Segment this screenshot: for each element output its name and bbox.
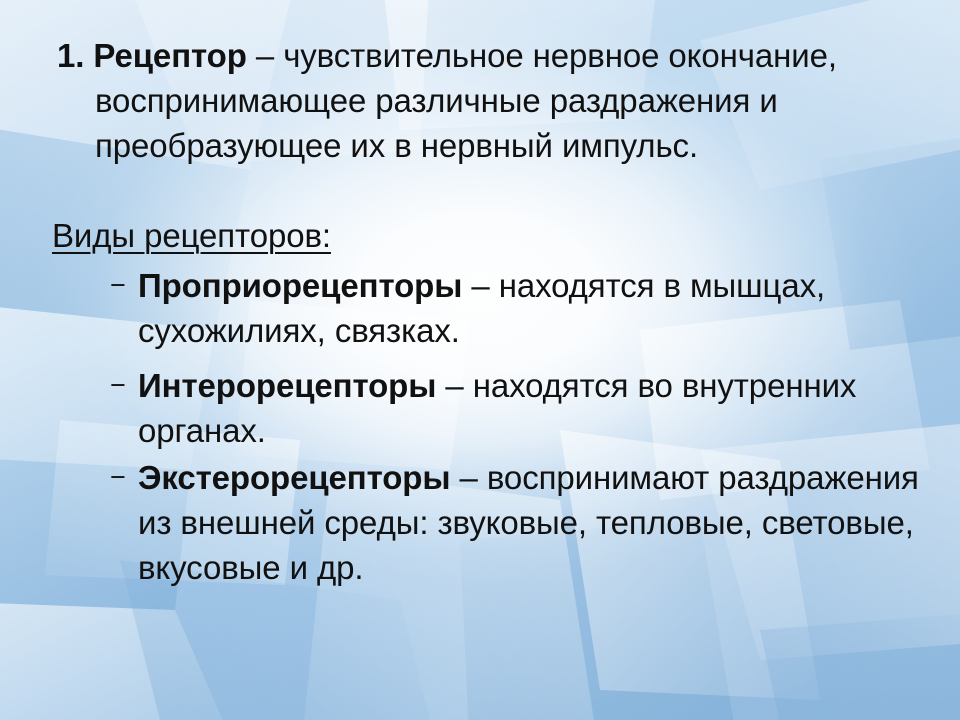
slide-canvas: 1. Рецептор – чувствительное нервное око… <box>0 0 960 720</box>
space-8 <box>450 459 459 496</box>
slide-text-content: 1. Рецептор – чувствительное нервное око… <box>0 0 960 720</box>
space-7 <box>464 367 473 404</box>
list-item-exteroreceptors: −Экстерорецепторы – воспринимают раздраж… <box>110 455 928 590</box>
space-4 <box>462 267 471 304</box>
bullet-term: Интерорецепторы <box>138 367 436 404</box>
types-heading: Виды рецепторов: <box>52 213 882 258</box>
dash-bullet-icon: − <box>110 263 138 308</box>
bullet-dash: – <box>445 367 463 404</box>
dash-bullet-icon: − <box>110 363 138 408</box>
bullet-dash: – <box>460 459 478 496</box>
bullet-term: Проприорецепторы <box>138 267 462 304</box>
definition-number: 1. <box>57 37 84 74</box>
bullet-dash: – <box>471 267 489 304</box>
space-9 <box>478 459 487 496</box>
space-6 <box>436 367 445 404</box>
list-item-interoreceptors: −Интерорецепторы – находятся во внутренн… <box>110 363 928 453</box>
space-5 <box>490 267 499 304</box>
definition-term: Рецептор <box>93 37 246 74</box>
definition-paragraph: 1. Рецептор – чувствительное нервное око… <box>57 33 925 168</box>
bullet-term: Экстерорецепторы <box>138 459 450 496</box>
space-2 <box>247 37 256 74</box>
types-heading-text: Виды рецепторов: <box>52 217 331 254</box>
dash-bullet-icon: − <box>110 455 138 500</box>
space-3 <box>274 37 283 74</box>
list-item-proprioreceptors: −Проприорецепторы – находятся в мышцах, … <box>110 263 928 353</box>
definition-dash: – <box>256 37 274 74</box>
